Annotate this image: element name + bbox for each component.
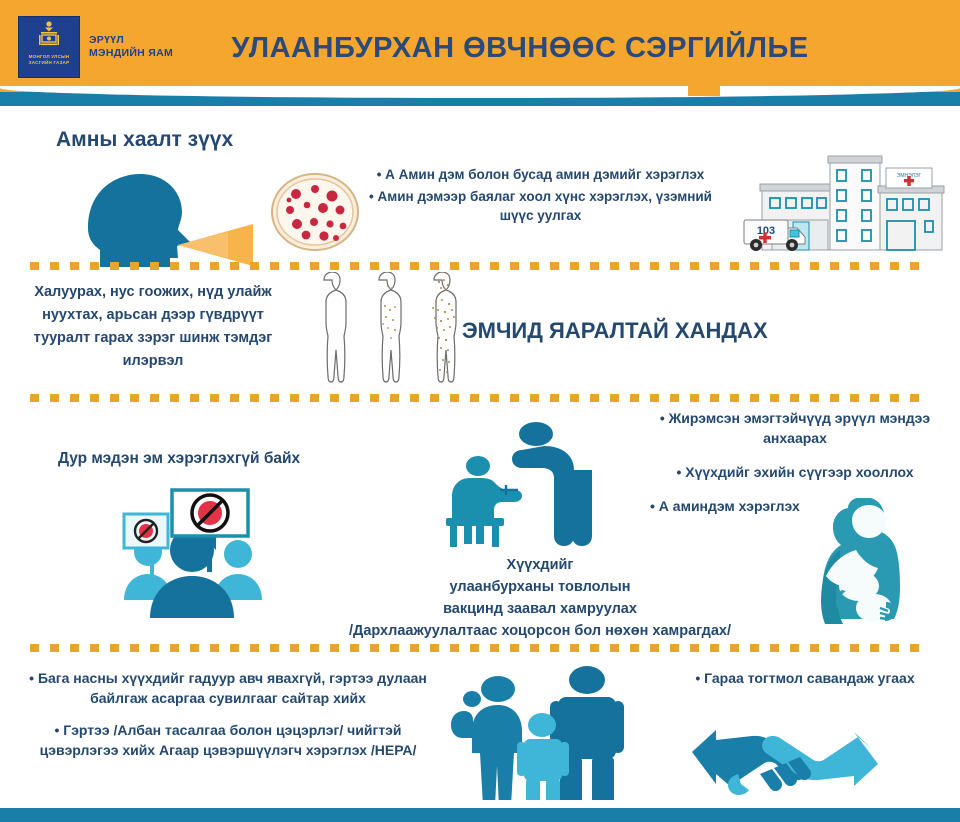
emblem-line-2: ЗАСГИЙН ГАЗАР bbox=[19, 60, 79, 66]
section1-title: Амны хаалт зүүх bbox=[56, 128, 233, 152]
page-title: УЛААНБУРХАН ӨВЧНӨӨС СЭРГИЙЛЬЕ bbox=[200, 32, 840, 65]
section3-bullet-1: Жирэмсэн эмэгтэйчүүд эрүүл мэндээ анхаар… bbox=[669, 410, 931, 446]
measles-rash-body-figures bbox=[300, 272, 470, 394]
divider-3 bbox=[30, 644, 930, 652]
footer-accent-bar bbox=[0, 808, 960, 822]
infographic-poster: МОНГОЛ УЛСЫН ЗАСГИЙН ГАЗАР ЭРҮҮЛ МЭНДИЙН… bbox=[0, 0, 960, 822]
section3-left-title: Дур мэдэн эм хэрэглэхгүй байх bbox=[58, 450, 300, 468]
list-item: • А Амин дэм болон бусад амин дэмийг хэр… bbox=[368, 165, 713, 184]
ministry-line-2: МЭНДИЙН ЯАМ bbox=[89, 47, 173, 60]
family-silhouette-icon bbox=[450, 663, 650, 808]
header-notch bbox=[688, 86, 720, 96]
vaccine-line-1: Хүүхдийг bbox=[270, 554, 810, 576]
divider-1 bbox=[30, 262, 930, 270]
list-item: • Хүүхдийг эхийн сүүгээр хооллох bbox=[640, 462, 950, 482]
hospital-building-icon: ЭМНЭЛЭГ 103 bbox=[742, 146, 947, 258]
section4-bullets: • Бага насны хүүхдийг гадуур авч явахгүй… bbox=[18, 668, 438, 772]
list-item: • Бага насны хүүхдийг гадуур авч явахгүй… bbox=[18, 668, 438, 708]
divider-2 bbox=[30, 394, 930, 402]
section4-wash-text: Гараа тогтмол савандаж угаах bbox=[704, 670, 915, 686]
section4-bullet-1: Бага насны хүүхдийг гадуур авч явахгүй, … bbox=[38, 670, 427, 706]
section1-bullet-1: А Амин дэм болон бусад амин дэмийг хэрэг… bbox=[385, 167, 704, 182]
section3-bullet-2: Хүүхдийг эхийн сүүгээр хооллох bbox=[685, 464, 913, 480]
section3-center-text: Хүүхдийг улаанбурханы товлолын вакцинд з… bbox=[270, 554, 810, 642]
section1-bullet-2: Амин дэмээр баялаг хоол хүнс хэрэглэх, ү… bbox=[378, 189, 712, 223]
section2-symptoms: Халуурах, нус гоожих, нүд улайж нуухтах,… bbox=[28, 281, 278, 373]
ministry-name: ЭРҮҮЛ МЭНДИЙН ЯАМ bbox=[89, 34, 173, 60]
vaccine-line-4: /Дархлаажуулалтаас хоцорсон бол нөхөн ха… bbox=[270, 620, 810, 642]
breastfeeding-mother-icon bbox=[812, 498, 932, 628]
list-item: • Амин дэмээр баялаг хоол хүнс хэрэглэх,… bbox=[368, 187, 713, 225]
section2-heading: ЭМЧИД ЯАРАЛТАЙ ХАНДАХ bbox=[462, 318, 768, 344]
vaccine-line-2: улаанбурханы товлолын bbox=[270, 576, 810, 598]
section4-right-text: • Гараа тогтмол савандаж угаах bbox=[660, 668, 950, 688]
header-banner: МОНГОЛ УЛСЫН ЗАСГИЙН ГАЗАР ЭРҮҮЛ МЭНДИЙН… bbox=[0, 0, 960, 92]
doctor-vaccinating-child-icon bbox=[440, 422, 640, 547]
section4-bullet-2: Гэртээ /Албан тасалгаа болон цэцэрлэг/ ч… bbox=[40, 722, 417, 758]
list-item: • Гэртээ /Албан тасалгаа болон цэцэрлэг/… bbox=[18, 720, 438, 760]
petri-dish-virus-icon bbox=[270, 172, 360, 252]
ministry-logo: МОНГОЛ УЛСЫН ЗАСГИЙН ГАЗАР ЭРҮҮЛ МЭНДИЙН… bbox=[18, 16, 173, 78]
list-item: • Жирэмсэн эмэгтэйчүүд эрүүл мэндээ анха… bbox=[640, 408, 950, 448]
vaccine-line-3: вакцинд заавал хамруулах bbox=[270, 598, 810, 620]
government-emblem-box: МОНГОЛ УЛСЫН ЗАСГИЙН ГАЗАР bbox=[18, 16, 80, 78]
coughing-head-icon bbox=[78, 168, 268, 268]
ministry-line-1: ЭРҮҮЛ bbox=[89, 34, 173, 47]
section3-bullet-3: А аминдэм хэрэглэх bbox=[659, 498, 800, 514]
washing-hands-icon bbox=[690, 712, 880, 804]
section1-bullets: • А Амин дэм болон бусад амин дэмийг хэр… bbox=[368, 165, 713, 228]
soyombo-emblem bbox=[36, 20, 62, 54]
